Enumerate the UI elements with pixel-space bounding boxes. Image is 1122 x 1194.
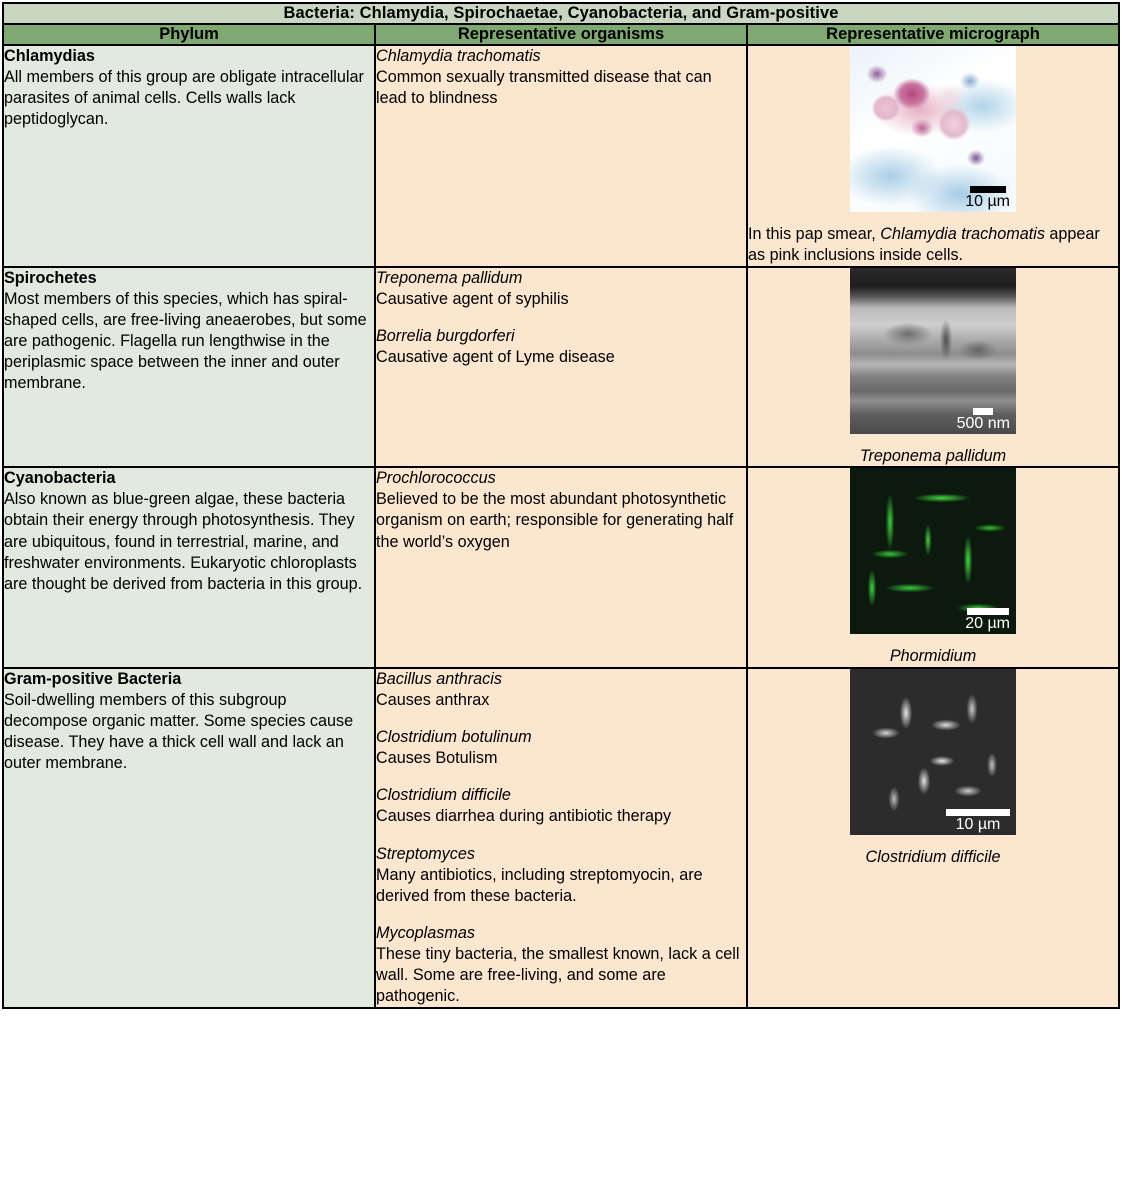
- scale-bar-label: 10 µm: [965, 194, 1010, 210]
- caption-text-lead: In this pap smear,: [748, 225, 880, 243]
- organisms-cell-gram-positive-bacteria: Bacillus anthracis Causes anthrax Clostr…: [375, 668, 747, 1008]
- organism-description: Causative agent of syphilis: [376, 289, 746, 310]
- phylum-cell-spirochetes: Spirochetes Most members of this species…: [3, 267, 375, 468]
- scale-bar: [946, 809, 1010, 816]
- micrograph-figure: 10 µm: [850, 669, 1016, 835]
- table-row: Spirochetes Most members of this species…: [3, 267, 1119, 468]
- micrograph-cell-chlamydias: 10 µm In this pap smear, Chlamydia trach…: [747, 45, 1119, 267]
- table-title: Bacteria: Chlamydia, Spirochaetae, Cyano…: [3, 3, 1119, 24]
- organism-name: Bacillus anthracis: [376, 669, 746, 690]
- table-header-row: Phylum Representative organisms Represen…: [3, 24, 1119, 45]
- organism-description: Causes anthrax: [376, 690, 746, 711]
- organism-description: Causative agent of Lyme disease: [376, 347, 746, 368]
- caption-species-name: Clostridium difficile: [866, 848, 1001, 866]
- organism-description: Believed to be the most abundant photosy…: [376, 489, 746, 552]
- table-row: Chlamydias All members of this group are…: [3, 45, 1119, 267]
- column-header-phylum: Phylum: [3, 24, 375, 45]
- micrograph-image-chlamydia-trachomatis: 10 µm: [850, 46, 1016, 212]
- organism-name: Borrelia burgdorferi: [376, 326, 746, 347]
- micrograph-caption: In this pap smear, Chlamydia trachomatis…: [748, 218, 1118, 265]
- phylum-name: Chlamydias: [4, 46, 374, 67]
- organism-description: Many antibiotics, including streptomyoci…: [376, 865, 746, 907]
- organism-name: Clostridium botulinum: [376, 727, 746, 748]
- micrograph-cell-gram-positive-bacteria: 10 µm Clostridium difficile: [747, 668, 1119, 1008]
- scale-bar-label: 20 µm: [965, 616, 1010, 632]
- table-title-row: Bacteria: Chlamydia, Spirochaetae, Cyano…: [3, 3, 1119, 24]
- table-row: Cyanobacteria Also known as blue-green a…: [3, 467, 1119, 668]
- scale-bar-label: 500 nm: [957, 416, 1010, 432]
- phylum-name: Cyanobacteria: [4, 468, 374, 489]
- micrograph-cell-spirochetes: 500 nm Treponema pallidum: [747, 267, 1119, 468]
- organism-description: These tiny bacteria, the smallest known,…: [376, 944, 746, 1007]
- phylum-name: Gram-positive Bacteria: [4, 669, 374, 690]
- organism-name: Clostridium difficile: [376, 785, 746, 806]
- micrograph-image-phormidium: 20 µm: [850, 468, 1016, 634]
- scale-bar: [967, 608, 1009, 615]
- organism-entry: Streptomyces Many antibiotics, including…: [376, 844, 746, 907]
- scale-bar: [970, 186, 1006, 193]
- organisms-cell-spirochetes: Treponema pallidum Causative agent of sy…: [375, 267, 747, 468]
- table-row: Gram-positive Bacteria Soil-dwelling mem…: [3, 668, 1119, 1008]
- scale-bar-group: 10 µm: [946, 809, 1010, 833]
- organisms-cell-cyanobacteria: Prochlorococcus Believed to be the most …: [375, 467, 747, 668]
- organism-entry: Borrelia burgdorferi Causative agent of …: [376, 326, 746, 368]
- micrograph-figure: 20 µm: [850, 468, 1016, 634]
- organism-name: Prochlorococcus: [376, 468, 746, 489]
- column-header-representative-organisms: Representative organisms: [375, 24, 747, 45]
- phylum-cell-cyanobacteria: Cyanobacteria Also known as blue-green a…: [3, 467, 375, 668]
- micrograph-caption: Phormidium: [748, 640, 1118, 667]
- caption-species-name: Phormidium: [890, 647, 976, 665]
- scale-bar-label: 10 µm: [946, 817, 1010, 833]
- bacteria-comparison-table: Bacteria: Chlamydia, Spirochaetae, Cyano…: [2, 2, 1120, 1009]
- phylum-description: Most members of this species, which has …: [4, 289, 374, 394]
- micrograph-caption: Treponema pallidum: [748, 440, 1118, 467]
- phylum-description: Also known as blue-green algae, these ba…: [4, 489, 374, 594]
- organism-name: Mycoplasmas: [376, 923, 746, 944]
- organism-name: Streptomyces: [376, 844, 746, 865]
- organism-entry: Treponema pallidum Causative agent of sy…: [376, 268, 746, 310]
- micrograph-cell-cyanobacteria: 20 µm Phormidium: [747, 467, 1119, 668]
- phylum-name: Spirochetes: [4, 268, 374, 289]
- scale-bar-group: 20 µm: [965, 608, 1010, 632]
- organism-description: Common sexually transmitted disease that…: [376, 67, 746, 109]
- caption-species-name: Treponema pallidum: [860, 447, 1006, 465]
- micrograph-caption: Clostridium difficile: [748, 841, 1118, 868]
- caption-species-name: Chlamydia trachomatis: [880, 225, 1045, 243]
- organism-entry: Prochlorococcus Believed to be the most …: [376, 468, 746, 552]
- phylum-description: Soil-dwelling members of this subgroup d…: [4, 690, 374, 774]
- bacteria-table-container: Bacteria: Chlamydia, Spirochaetae, Cyano…: [0, 0, 1122, 1011]
- organism-description: Causes diarrhea during antibiotic therap…: [376, 806, 746, 827]
- micrograph-image-clostridium-difficile: 10 µm: [850, 669, 1016, 835]
- organism-entry: Bacillus anthracis Causes anthrax: [376, 669, 746, 711]
- organism-entry: Clostridium botulinum Causes Botulism: [376, 727, 746, 769]
- scale-bar: [973, 408, 993, 415]
- scale-bar-group: 10 µm: [965, 186, 1010, 210]
- organism-name: Chlamydia trachomatis: [376, 46, 746, 67]
- organism-name: Treponema pallidum: [376, 268, 746, 289]
- micrograph-figure: 10 µm: [850, 46, 1016, 212]
- phylum-cell-gram-positive-bacteria: Gram-positive Bacteria Soil-dwelling mem…: [3, 668, 375, 1008]
- organisms-cell-chlamydias: Chlamydia trachomatis Common sexually tr…: [375, 45, 747, 267]
- organism-description: Causes Botulism: [376, 748, 746, 769]
- organism-entry: Mycoplasmas These tiny bacteria, the sma…: [376, 923, 746, 1007]
- micrograph-figure: 500 nm: [850, 268, 1016, 434]
- organism-entry: Clostridium difficile Causes diarrhea du…: [376, 785, 746, 827]
- organism-entry: Chlamydia trachomatis Common sexually tr…: [376, 46, 746, 109]
- phylum-description: All members of this group are obligate i…: [4, 67, 374, 130]
- phylum-cell-chlamydias: Chlamydias All members of this group are…: [3, 45, 375, 267]
- scale-bar-group: 500 nm: [957, 408, 1010, 432]
- micrograph-image-treponema-pallidum: 500 nm: [850, 268, 1016, 434]
- column-header-representative-micrograph: Representative micrograph: [747, 24, 1119, 45]
